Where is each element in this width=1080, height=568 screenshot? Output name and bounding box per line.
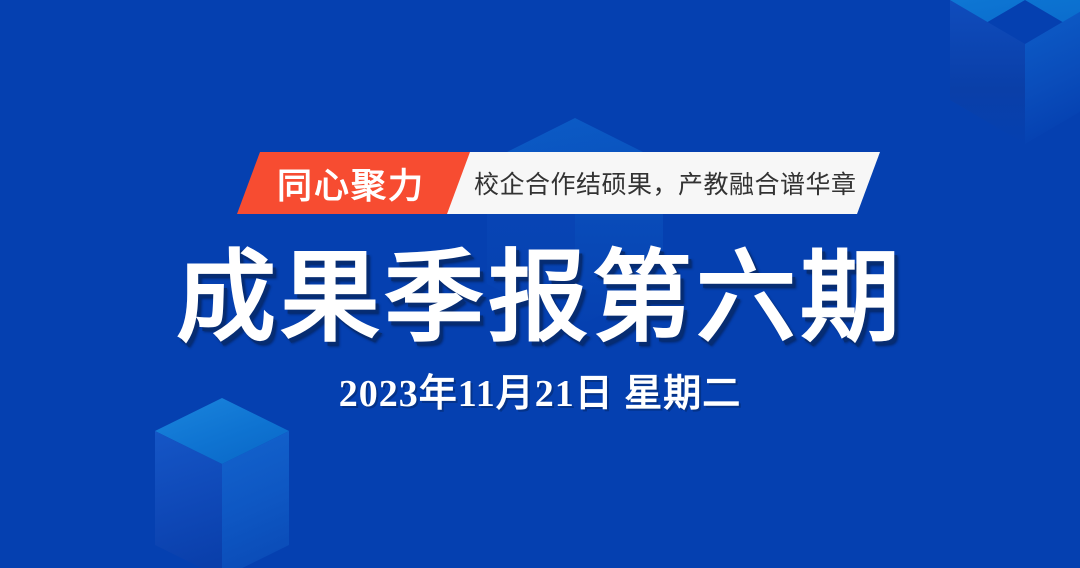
ribbon-orange-tag <box>237 152 470 214</box>
poster-canvas: 同心聚力 校企合作结硕果，产教融合谱华章 成果季报第六期 2023年11月21日… <box>0 0 1080 568</box>
ribbon-band <box>0 152 1080 214</box>
decorative-cube-top-right <box>950 0 1080 144</box>
ribbon-white-panel <box>418 152 880 214</box>
date-line: 2023年11月21日 星期二 <box>0 370 1080 418</box>
main-title: 成果季报第六期 <box>0 244 1080 354</box>
decorative-cube-lower-left <box>155 398 289 568</box>
